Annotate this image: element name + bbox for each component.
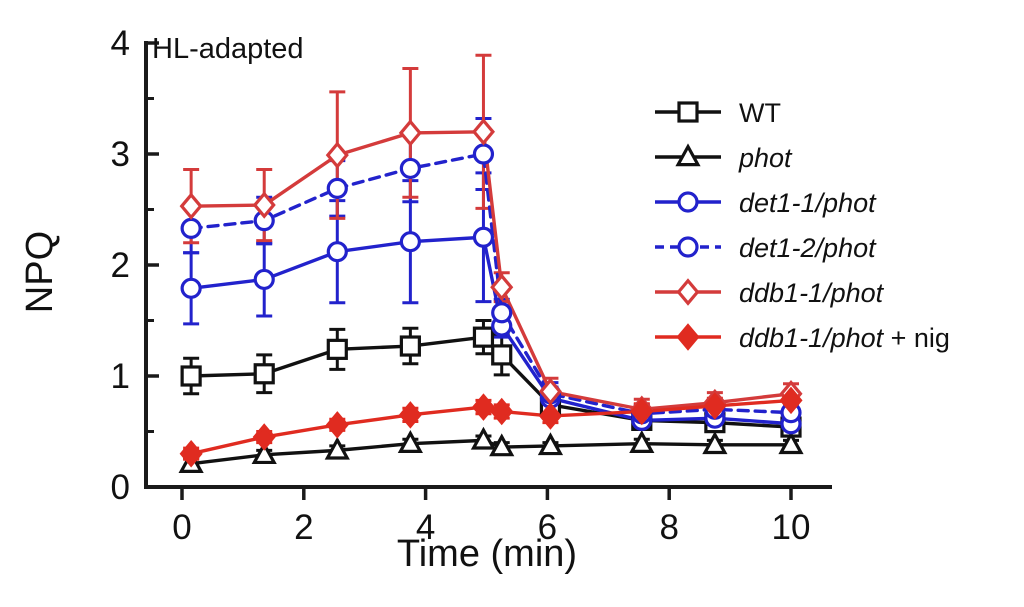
legend-label-main: phot — [738, 143, 793, 173]
legend-label: ddb1-1/phot + nig — [739, 323, 950, 353]
data-point-circle — [679, 193, 697, 211]
x-tick-label: 8 — [659, 508, 678, 547]
y-tick-label: 2 — [111, 246, 130, 285]
data-point-square — [255, 365, 273, 383]
y-tick-label: 3 — [111, 135, 130, 174]
data-point-circle — [474, 145, 492, 163]
x-tick-label: 0 — [172, 508, 191, 547]
data-point-square — [328, 340, 346, 358]
data-point-square — [474, 328, 492, 346]
data-point-square — [401, 337, 419, 355]
legend-label-main: WT — [739, 98, 781, 128]
legend-label: phot — [738, 143, 793, 173]
legend-label-main: det1-2/phot — [739, 233, 877, 263]
data-point-circle — [401, 159, 419, 177]
data-point-circle — [328, 243, 346, 261]
legend-item-ddb1-1-phot[interactable]: ddb1-1/phot — [655, 278, 885, 308]
y-tick-label: 0 — [111, 468, 130, 507]
x-tick-label: 10 — [772, 508, 811, 547]
data-point-circle — [679, 238, 697, 256]
data-point-circle — [328, 179, 346, 197]
legend-label-tail: + nig — [883, 323, 950, 353]
legend-label-main: det1-1/phot — [739, 188, 877, 218]
data-point-circle — [474, 228, 492, 246]
legend-label-main: ddb1-1/phot — [739, 278, 885, 308]
legend-label: ddb1-1/phot — [739, 278, 885, 308]
data-point-square — [493, 346, 511, 364]
x-tick-label: 2 — [294, 508, 313, 547]
legend-label: det1-2/phot — [739, 233, 877, 263]
data-point-circle — [182, 219, 200, 237]
legend-label: det1-1/phot — [739, 188, 877, 218]
legend-label-main: ddb1-1/phot — [739, 323, 885, 353]
data-point-circle — [255, 270, 273, 288]
y-tick-label: 1 — [111, 357, 130, 396]
y-tick-label: 4 — [111, 24, 130, 63]
data-point-square — [182, 367, 200, 385]
data-point-circle — [401, 233, 419, 251]
legend-label: WT — [739, 98, 781, 128]
npq-line-chart: 012340246810 HL-adapted NPQ Time (min) W… — [0, 0, 1024, 607]
data-point-circle — [182, 279, 200, 297]
plot-annotation: HL-adapted — [152, 33, 304, 65]
data-point-circle — [493, 304, 511, 322]
x-axis-title: Time (min) — [397, 533, 577, 575]
y-axis-title: NPQ — [19, 231, 61, 313]
chart-figure: 012340246810 HL-adapted NPQ Time (min) W… — [0, 0, 1024, 607]
data-point-square — [679, 103, 697, 121]
